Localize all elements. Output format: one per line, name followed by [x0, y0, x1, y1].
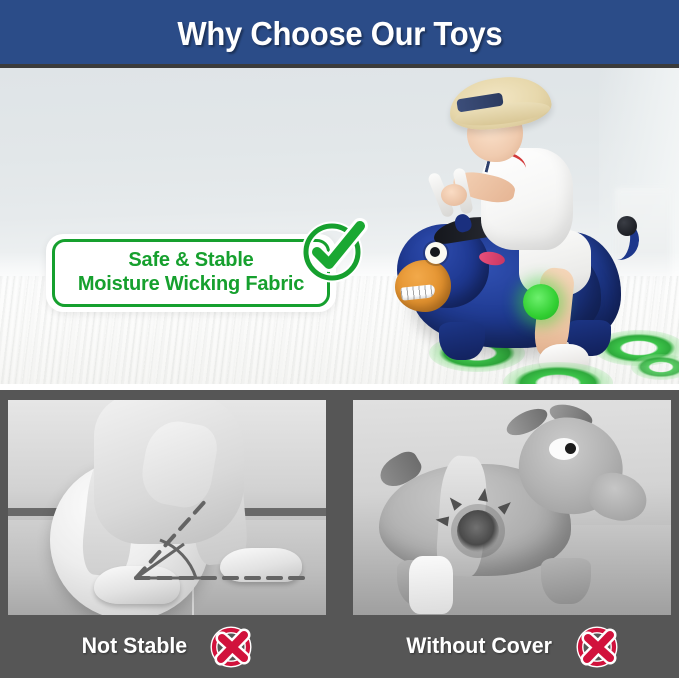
child-hand: [441, 184, 467, 206]
toy-eye: [425, 242, 447, 264]
x-circle-icon: [210, 624, 254, 668]
child-sock: [409, 556, 453, 614]
comparison-panel-without-cover: Without Cover: [345, 390, 679, 678]
x-circle-icon: [576, 624, 620, 668]
bare-toy-leg: [541, 558, 591, 604]
hero-toy-scene: [395, 72, 679, 384]
page-title: Why Choose Our Toys: [177, 15, 502, 53]
toy-tail-tip: [617, 216, 637, 236]
panel-photo-exercise-ball: [8, 400, 326, 615]
panel-caption-text: Without Cover: [406, 633, 552, 659]
hero-panel: Safe & Stable Moisture Wicking Fabric: [0, 68, 679, 384]
stability-ground-ring: [631, 354, 679, 380]
panel-caption-without-cover: Without Cover: [345, 618, 679, 674]
header-banner: Why Choose Our Toys: [0, 0, 679, 68]
callout-line-1: Safe & Stable: [128, 250, 253, 272]
feature-callout: Safe & Stable Moisture Wicking Fabric: [46, 234, 336, 312]
comparison-strip: Not Stable: [0, 390, 679, 678]
toy-front-leg: [439, 322, 485, 360]
tilt-angle-annotation: [8, 400, 326, 615]
panel-photo-bare-toy: [353, 400, 671, 615]
friction-point-indicator: [457, 510, 499, 552]
infographic-root: Why Choose Our Toys: [0, 0, 679, 678]
panel-caption-not-stable: Not Stable: [0, 618, 334, 674]
feature-callout-border: Safe & Stable Moisture Wicking Fabric: [52, 239, 330, 307]
panel-caption-text: Not Stable: [81, 633, 187, 659]
stability-contact-dot: [523, 284, 559, 320]
friction-spark-icon: [435, 515, 449, 527]
comparison-panel-not-stable: Not Stable: [0, 390, 334, 678]
callout-line-2: Moisture Wicking Fabric: [78, 274, 304, 296]
bare-toy-eye: [549, 438, 579, 460]
check-circle-icon: [298, 214, 370, 286]
stability-ground-ring: [503, 362, 613, 384]
